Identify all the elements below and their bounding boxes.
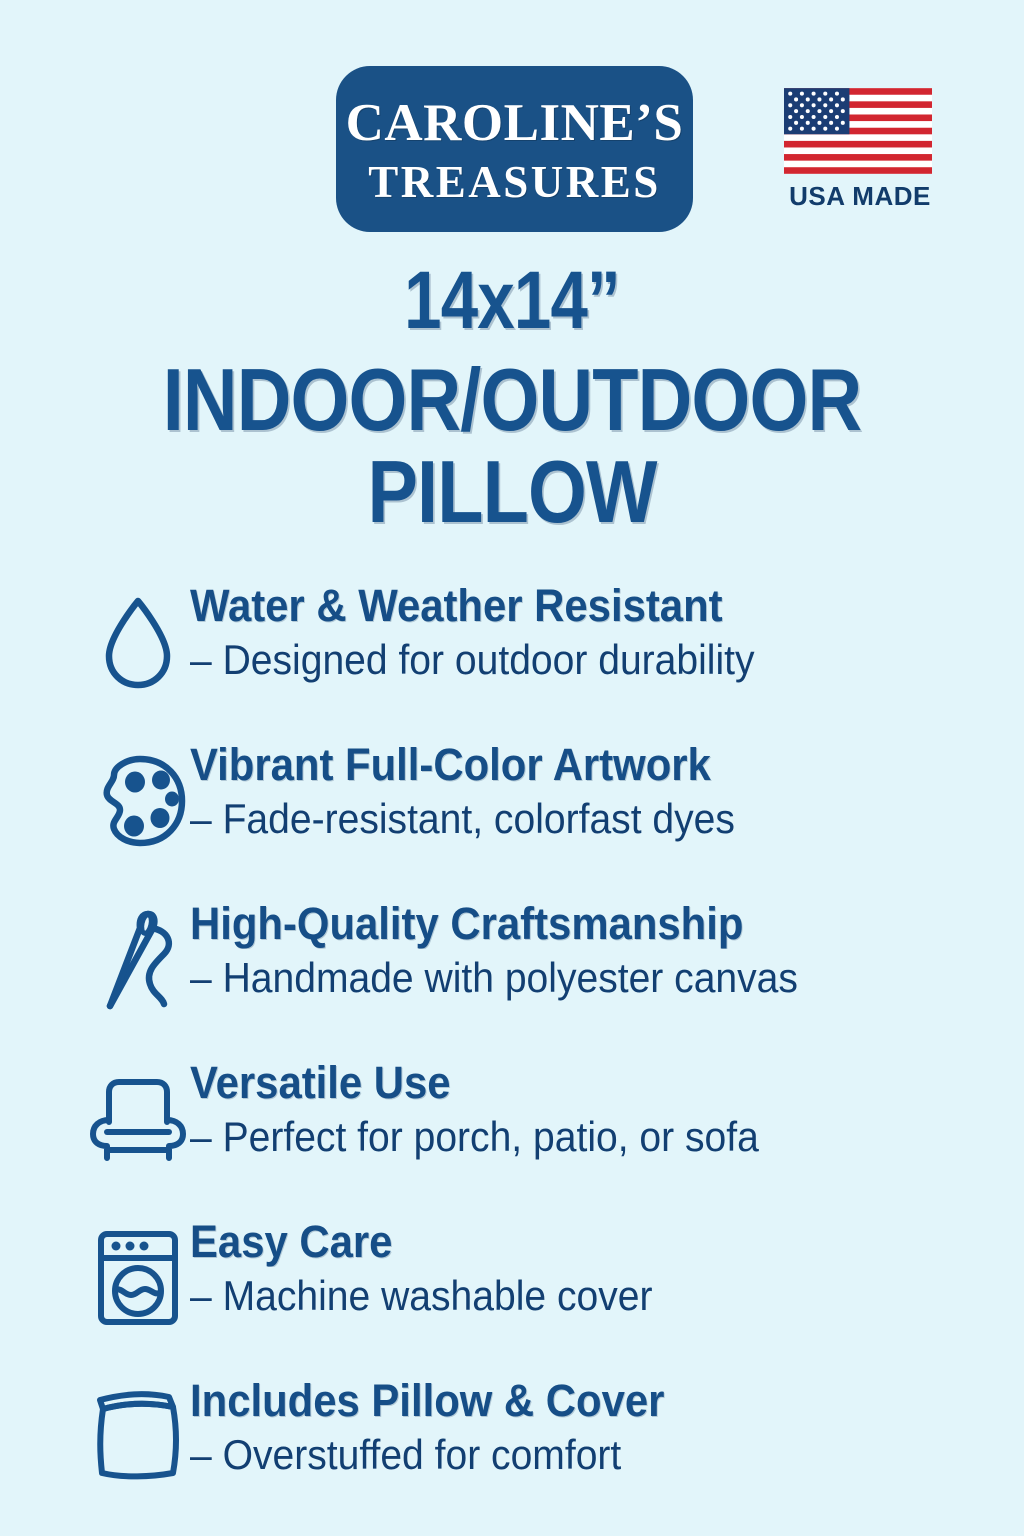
brand-logo: CAROLINE’S TREASURES (336, 66, 693, 232)
feature-item: Water & Weather Resistant – Designed for… (86, 581, 1024, 740)
feature-list: Water & Weather Resistant – Designed for… (0, 581, 1024, 1535)
needle-thread-icon (86, 899, 190, 1011)
usa-made-badge: USA MADE (784, 88, 936, 212)
feature-text: Vibrant Full-Color Artwork – Fade-resist… (190, 740, 776, 844)
feature-item: Versatile Use – Perfect for porch, patio… (86, 1058, 1024, 1217)
feature-item: Vibrant Full-Color Artwork – Fade-resist… (86, 740, 1024, 899)
feature-subtitle: – Perfect for porch, patio, or sofa (190, 1112, 759, 1162)
feature-subtitle: – Designed for outdoor durability (190, 635, 755, 685)
feature-item: Includes Pillow & Cover – Overstuffed fo… (86, 1376, 1024, 1535)
feature-item: Easy Care – Machine washable cover (86, 1217, 1024, 1376)
feature-text: Water & Weather Resistant – Designed for… (190, 581, 797, 685)
brand-name-line1: CAROLINE’S (346, 97, 684, 150)
feature-title: Easy Care (190, 1217, 652, 1268)
feature-subtitle: – Handmade with polyester canvas (190, 953, 798, 1003)
us-flag-icon (784, 88, 932, 174)
armchair-icon (86, 1058, 190, 1170)
feature-title: Includes Pillow & Cover (190, 1376, 664, 1427)
feature-title: Versatile Use (190, 1058, 759, 1109)
feature-subtitle: – Overstuffed for comfort (190, 1430, 664, 1480)
feature-text: Versatile Use – Perfect for porch, patio… (190, 1058, 802, 1162)
pillow-icon (86, 1376, 190, 1488)
feature-text: Easy Care – Machine washable cover (190, 1217, 687, 1321)
feature-title: High-Quality Craftsmanship (190, 899, 798, 950)
feature-subtitle: – Machine washable cover (190, 1271, 652, 1321)
paint-palette-icon (86, 740, 190, 852)
brand-name-line2: TREASURES (368, 160, 661, 205)
product-feature-infographic: CAROLINE’S TREASURES (0, 0, 1024, 1536)
feature-title: Water & Weather Resistant (190, 581, 755, 632)
feature-title: Vibrant Full-Color Artwork (190, 740, 735, 791)
product-type-line: INDOOR/OUTDOOR PILLOW (72, 354, 953, 539)
feature-text: High-Quality Craftsmanship – Handmade wi… (190, 899, 844, 1003)
feature-item: High-Quality Craftsmanship – Handmade wi… (86, 899, 1024, 1058)
product-title: 14x14” INDOOR/OUTDOOR PILLOW (0, 260, 1024, 539)
washing-machine-icon (86, 1217, 190, 1329)
feature-subtitle: – Fade-resistant, colorfast dyes (190, 794, 735, 844)
header: CAROLINE’S TREASURES (0, 0, 1024, 250)
feature-text: Includes Pillow & Cover – Overstuffed fo… (190, 1376, 700, 1480)
product-size-line: 14x14” (92, 260, 932, 342)
water-drop-icon (86, 581, 190, 693)
usa-made-label: USA MADE (784, 181, 936, 212)
